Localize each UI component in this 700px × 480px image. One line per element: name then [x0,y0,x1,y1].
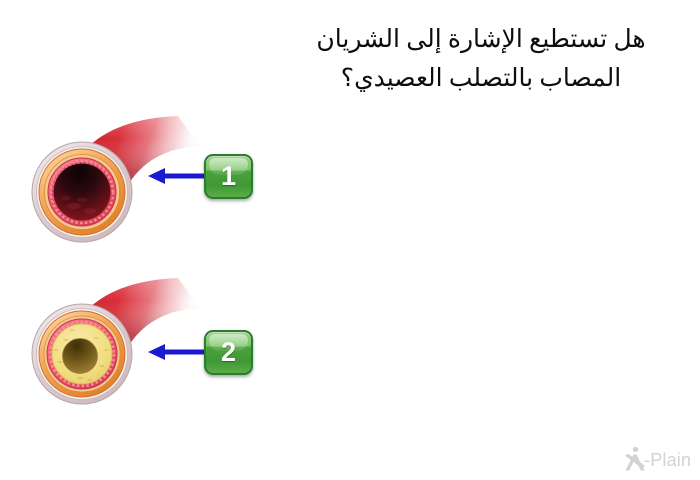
pointer-arrow-1 [148,166,206,186]
choice-button-1-label: 1 [221,163,236,190]
watermark: -Plain [624,446,696,474]
choice-button-2[interactable]: 2 [204,330,253,375]
lumen-narrowed [63,339,98,374]
choice-button-2-label: 2 [221,339,236,366]
watermark-text: -Plain [644,450,691,471]
lumen-open [54,164,111,221]
choice-button-1[interactable]: 1 [204,154,253,199]
pointer-arrow-2 [148,342,206,362]
left-arrow-icon [148,166,206,186]
person-x-logo-icon [624,446,646,472]
slide-canvas: هل تستطيع الإشارة إلى الشريان المصاب بال… [0,0,700,480]
question-text: هل تستطيع الإشارة إلى الشريان المصاب بال… [300,20,662,98]
left-arrow-icon [148,342,206,362]
